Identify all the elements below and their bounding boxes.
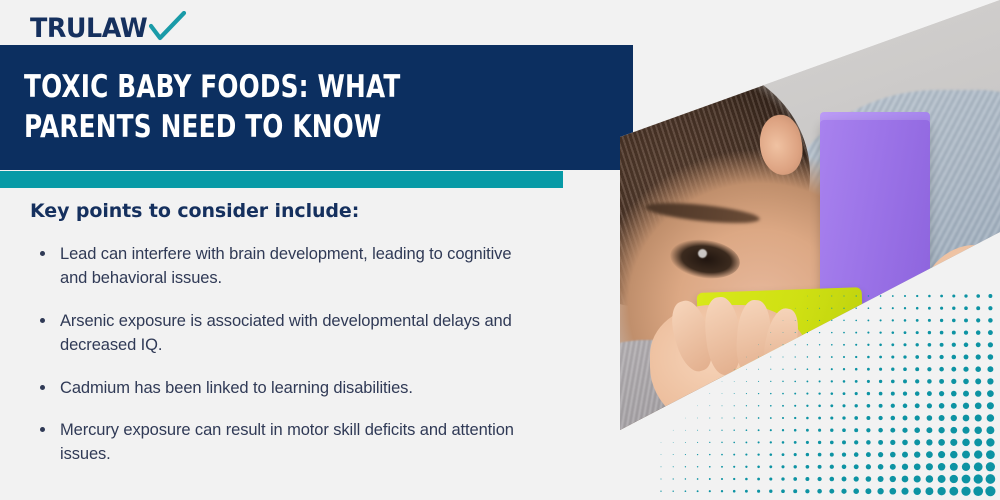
title-banner: Toxic Baby Foods: What Parents Need to K… xyxy=(0,45,633,170)
check-icon xyxy=(149,11,187,41)
trulaw-logo[interactable]: TRULAW xyxy=(30,8,187,42)
content-body: Key points to consider include: Lead can… xyxy=(0,200,600,485)
teal-accent-bar xyxy=(0,171,563,188)
page-title: Toxic Baby Foods: What Parents Need to K… xyxy=(0,68,506,146)
list-item: Arsenic exposure is associated with deve… xyxy=(38,309,543,358)
photo-purple-block xyxy=(820,120,930,310)
list-item: Mercury exposure can result in motor ski… xyxy=(38,418,543,467)
photo-eye-highlight xyxy=(698,249,707,258)
key-points-heading: Key points to consider include: xyxy=(0,200,600,222)
list-item: Cadmium has been linked to learning disa… xyxy=(38,376,543,400)
photo-composition xyxy=(620,0,1000,500)
key-points-list: Lead can interfere with brain developmen… xyxy=(0,242,600,467)
hero-photo xyxy=(620,0,1000,500)
list-item: Lead can interfere with brain developmen… xyxy=(38,242,543,291)
logo-wordmark: TRULAW xyxy=(30,15,147,42)
infographic-canvas: TRULAW Toxic Baby Foods: What Parents Ne… xyxy=(0,0,1000,500)
